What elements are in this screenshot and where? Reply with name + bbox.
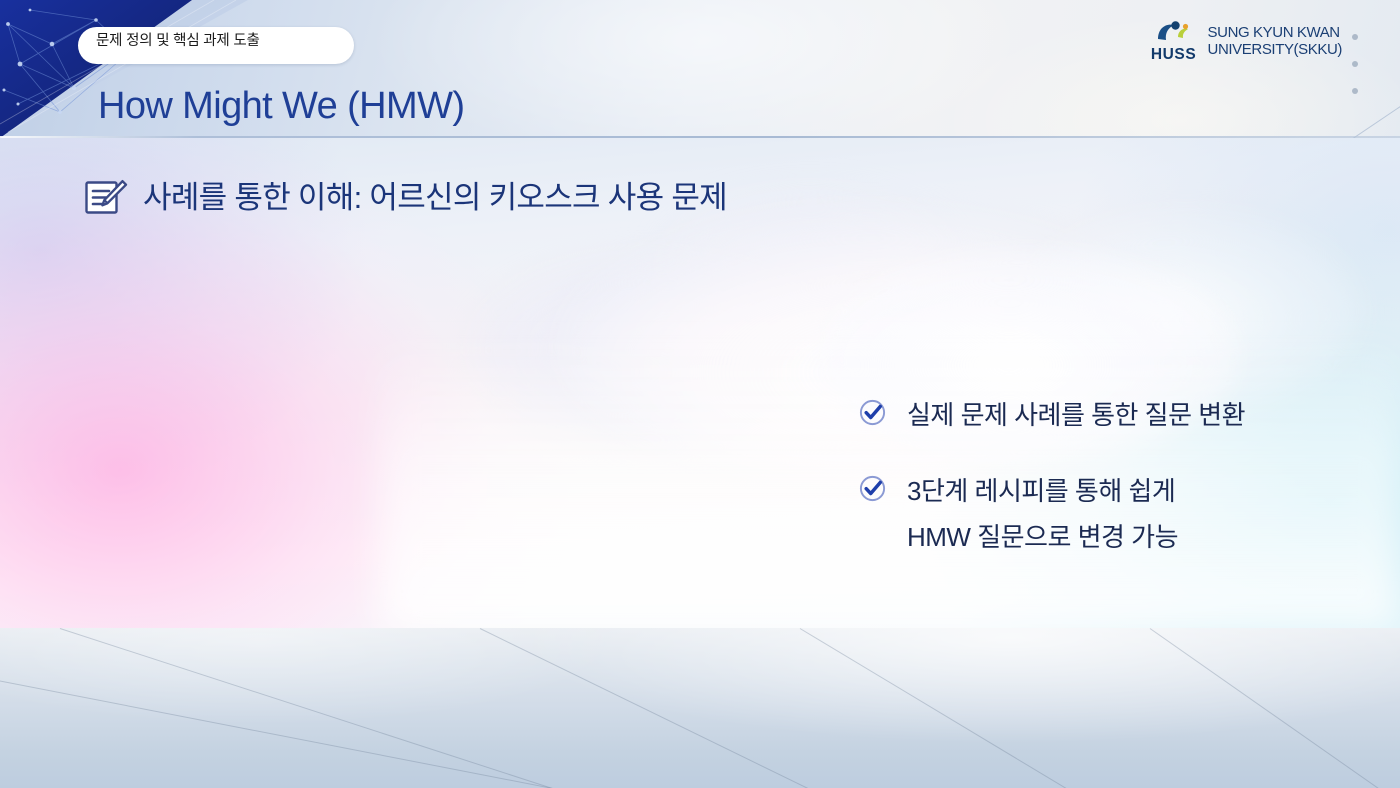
skku-name-line2: UNIVERSITY(SKKU) xyxy=(1208,41,1342,59)
memo-pencil-icon xyxy=(84,178,128,218)
floor-sheen xyxy=(0,628,1400,788)
skku-name-line1: SUNG KYUN KWAN xyxy=(1208,24,1342,42)
list-item: 실제 문제 사례를 통한 질문 변환 xyxy=(858,392,1358,438)
page-title: How Might We (HMW) xyxy=(98,82,464,130)
bullet-list: 실제 문제 사례를 통한 질문 변환 3단계 레시피를 통해 쉽게 HMW 질문… xyxy=(858,392,1358,590)
subheading-label: 사례를 통한 이해: 어르신의 키오스크 사용 문제 xyxy=(143,178,727,218)
header-divider xyxy=(0,136,1400,138)
breadcrumb-label: 문제 정의 및 핵심 과제 도출 xyxy=(96,31,324,51)
header-dots xyxy=(1352,34,1358,94)
slide-canvas: HUSS SUNG KYUN KWAN UNIVERSITY(SKKU) 문제 … xyxy=(0,0,1400,788)
huss-emblem-icon xyxy=(1154,20,1194,46)
header-dot-icon xyxy=(1352,34,1358,40)
skku-wordmark: SUNG KYUN KWAN UNIVERSITY(SKKU) xyxy=(1208,24,1342,59)
slide-header: HUSS SUNG KYUN KWAN UNIVERSITY(SKKU) 문제 … xyxy=(0,0,1400,138)
skku-logo: HUSS SUNG KYUN KWAN UNIVERSITY(SKKU) xyxy=(1149,20,1342,62)
list-item-label: 실제 문제 사례를 통한 질문 변환 xyxy=(907,392,1245,438)
list-item-label: 3단계 레시피를 통해 쉽게 HMW 질문으로 변경 가능 xyxy=(907,468,1178,560)
huss-wordmark: HUSS xyxy=(1151,47,1196,62)
header-dot-icon xyxy=(1352,88,1358,94)
list-item: 3단계 레시피를 통해 쉽게 HMW 질문으로 변경 가능 xyxy=(858,468,1358,560)
floor-plane xyxy=(0,628,1400,788)
subheading-row: 사례를 통한 이해: 어르신의 키오스크 사용 문제 xyxy=(84,178,727,218)
check-circle-icon xyxy=(858,474,887,503)
header-dot-icon xyxy=(1352,61,1358,67)
check-circle-icon xyxy=(858,398,887,427)
huss-logo-mark: HUSS xyxy=(1149,20,1199,62)
